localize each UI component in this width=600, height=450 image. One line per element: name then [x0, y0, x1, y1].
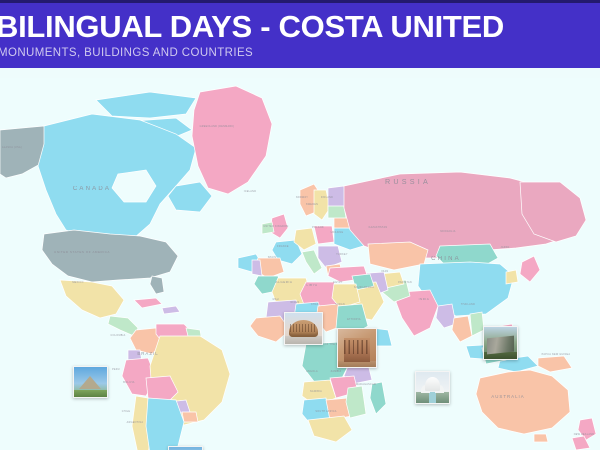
page-title: BILINGUAL DAYS - COSTA UNITED: [0, 9, 504, 45]
country-tasmania: [534, 434, 548, 442]
map-label-turkey: TURKEY: [336, 253, 348, 256]
map-label-chile: CHILE: [122, 410, 131, 413]
map-label-united-states-of-america: UNITED STATES OF AMERICA: [54, 250, 110, 254]
map-label-saudi-arabia: SAUDI ARABIA: [354, 286, 374, 289]
map-label-peru: PERU: [112, 368, 120, 371]
map-label-bolivia: BOLIVIA: [123, 381, 135, 384]
world-map[interactable]: CANADAUNITED STATES OF AMERICAALASKA (US…: [0, 78, 600, 450]
map-label-france: FRANCE: [277, 245, 289, 248]
map-label-norway: NORWAY: [296, 196, 308, 199]
map-label-algeria: ALGERIA: [276, 280, 293, 284]
map-label-japan: JAPAN: [500, 246, 509, 249]
map-label-chad: CHAD: [311, 303, 319, 306]
map-label-namibia: NAMIBIA: [310, 390, 322, 393]
map-label-iran: IRAN: [382, 270, 389, 273]
map-label-sudan: SUDAN: [335, 303, 345, 306]
colosseum-ground: [285, 336, 322, 344]
chichen-itza-photo[interactable]: [73, 366, 108, 398]
map-label-pakistan: PAKISTAN: [398, 281, 412, 284]
colosseum-photo[interactable]: [284, 312, 323, 345]
map-label-greenland-denmark-: GREENLAND (DENMARK): [200, 125, 235, 128]
great-wall-structure: [487, 336, 514, 355]
map-label-united-kingdom: UNITED KINGDOM: [263, 225, 288, 228]
map-label-zambia: ZAMBIA: [331, 370, 342, 373]
map-label-ethiopia: ETHIOPIA: [347, 318, 361, 321]
map-label-south-africa: SOUTH AFRICA: [315, 410, 336, 413]
map-label-finland: FINLAND: [321, 196, 333, 199]
slide: BILINGUAL DAYS - COSTA UNITED MONUMENTS,…: [0, 0, 600, 450]
map-label-poland: POLAND: [312, 226, 324, 229]
map-label-egypt: EGYPT: [333, 281, 343, 284]
great-wall-photo[interactable]: [483, 326, 518, 360]
country-ireland: [262, 222, 274, 234]
country-portugal: [252, 260, 262, 276]
chichen-itza-ground: [74, 390, 107, 397]
chichen-itza-pyramid: [79, 376, 101, 389]
page-subtitle: MONUMENTS, BUILDINGS AND COUNTRIES: [0, 47, 253, 59]
map-label-mexico: MEXICO: [72, 281, 83, 284]
map-label-papua-new-guinea: PAPUA NEW GUINEA: [542, 353, 571, 356]
map-label-ukraine: UKRAINE: [331, 231, 344, 234]
map-label-niger: NIGER: [290, 301, 299, 304]
taj-mahal-dome: [425, 377, 440, 391]
map-label-mali: MALI: [273, 298, 280, 301]
map-label-australia: AUSTRALIA: [491, 394, 524, 399]
petra-facade: [344, 338, 370, 362]
christ-redeemer-photo[interactable]: [168, 446, 203, 450]
map-label-new-zealand: NEW ZEALAND: [574, 433, 595, 436]
map-label-india: INDIA: [419, 297, 430, 301]
map-label-alaska-usa-: ALASKA (USA): [2, 146, 22, 149]
country-mozambique: [346, 386, 366, 418]
map-label-iceland: ICELAND: [244, 190, 256, 193]
country-argentina: [146, 398, 184, 450]
map-label-libya: LIBYA: [306, 283, 317, 287]
map-label-russia: RUSSIA: [385, 177, 431, 186]
map-label-mongolia: MONGOLIA: [440, 230, 455, 233]
petra-photo[interactable]: [337, 328, 377, 368]
map-label-colombia: COLOMBIA: [110, 334, 125, 337]
map-label-china: CHINA: [431, 256, 461, 262]
map-label-kazakhstan: KAZAKHSTAN: [369, 226, 388, 229]
slide-header: BILINGUAL DAYS - COSTA UNITED MONUMENTS,…: [0, 0, 600, 68]
map-label-canada: CANADA: [73, 186, 111, 192]
map-label-spain: SPAIN: [268, 256, 277, 259]
country-korea: [506, 270, 518, 284]
taj-mahal-photo[interactable]: [415, 371, 450, 404]
map-label-sweden: SWEDEN: [306, 203, 318, 206]
map-label-brazil: BRAZIL: [137, 351, 158, 356]
colosseum-structure: [289, 320, 318, 337]
map-label-thailand: THAILAND: [461, 303, 475, 306]
map-label-angola: ANGOLA: [306, 370, 318, 373]
taj-mahal-garden: [416, 392, 449, 403]
country-baltic: [328, 206, 346, 218]
map-label-madagascar: MADAGASCAR: [356, 383, 376, 386]
country-uruguay: [182, 412, 198, 422]
map-label-argentina: ARGENTINA: [127, 421, 144, 424]
